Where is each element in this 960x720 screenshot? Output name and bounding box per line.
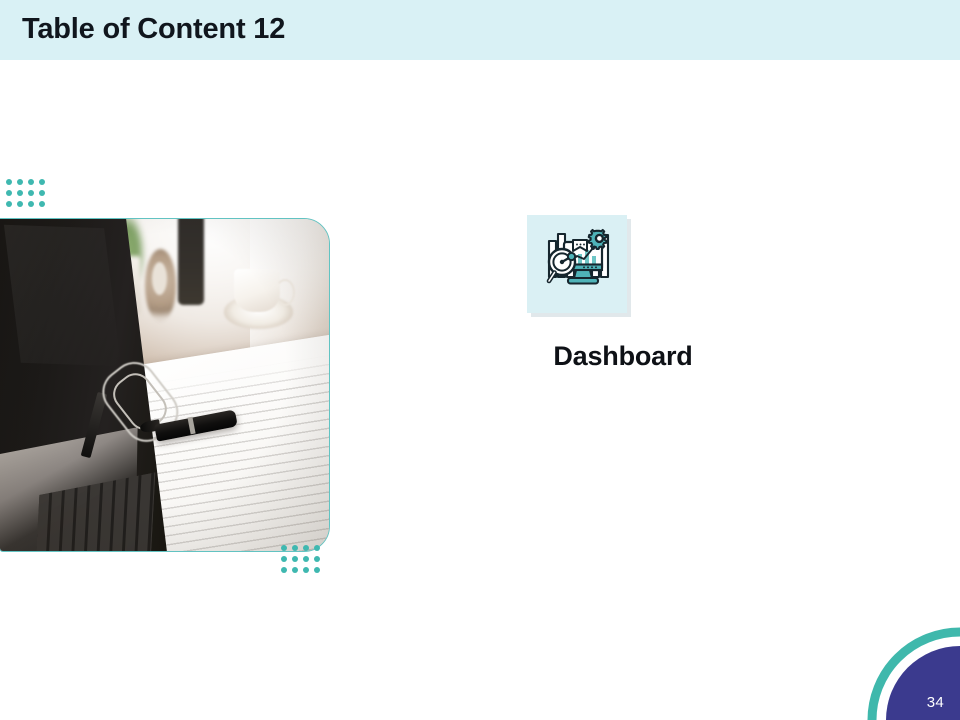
photo-vignette (0, 219, 329, 551)
icon-tile (527, 215, 627, 313)
dot (17, 201, 23, 207)
dashboard-analytics-icon (540, 226, 614, 303)
content-item-label: Dashboard (523, 341, 723, 372)
desk-photo (0, 219, 329, 551)
dot (39, 179, 45, 185)
dot (281, 545, 287, 551)
dot (39, 201, 45, 207)
dot (303, 567, 309, 573)
dot (39, 190, 45, 196)
decorative-dot-grid-bottom-right (281, 545, 320, 573)
dot (28, 179, 34, 185)
dot (303, 545, 309, 551)
dot (6, 179, 12, 185)
dot (6, 201, 12, 207)
dot (281, 556, 287, 562)
dot (292, 545, 298, 551)
slide: Table of Content 12 (0, 0, 960, 720)
dot (281, 567, 287, 573)
desk-photo-card (0, 218, 330, 552)
dot (292, 556, 298, 562)
page-number: 34 (927, 694, 944, 711)
dot (28, 201, 34, 207)
dot (17, 190, 23, 196)
page-title: Table of Content 12 (22, 13, 285, 46)
dot (6, 190, 12, 196)
dot (314, 556, 320, 562)
dot (303, 556, 309, 562)
decorative-dot-grid-top-left (6, 179, 45, 207)
dot (292, 567, 298, 573)
dot (17, 179, 23, 185)
corner-white-arc (864, 624, 960, 720)
content-item-dashboard[interactable]: Dashboard (523, 215, 743, 372)
corner-navy-shape (886, 646, 960, 720)
dot (314, 567, 320, 573)
corner-teal-arc (872, 632, 960, 720)
dot (28, 190, 34, 196)
dot (314, 545, 320, 551)
